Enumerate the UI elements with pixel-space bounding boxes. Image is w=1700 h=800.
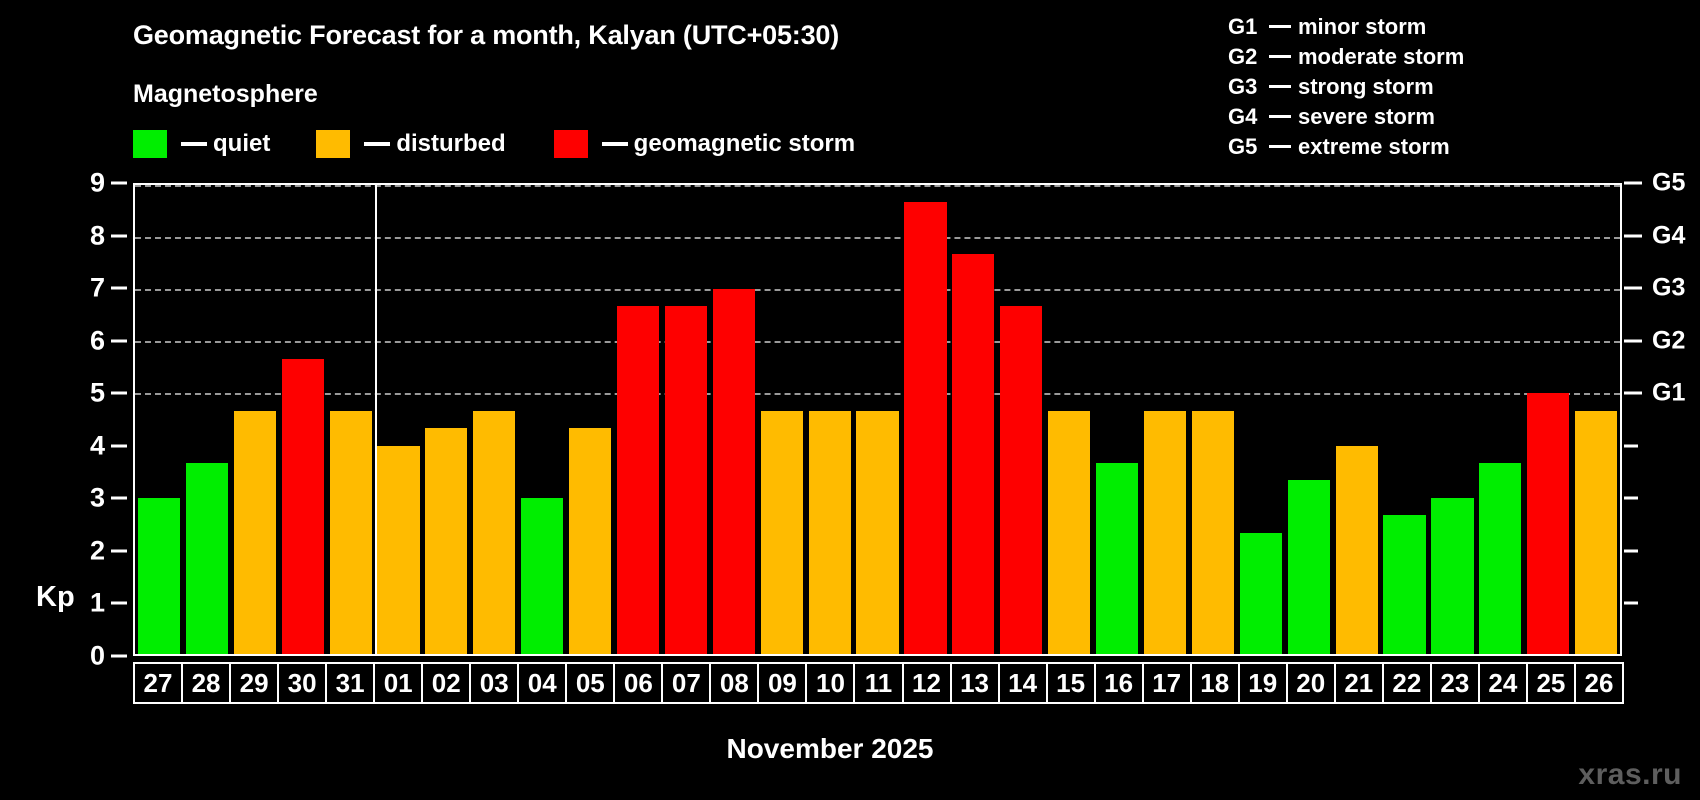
g-tick-label-g4: G4 [1652,221,1685,250]
bar-cell[interactable] [135,185,183,654]
date-label-09[interactable]: 09 [757,662,807,704]
y-tick-label-8: 8 [90,220,105,251]
g-key-dash-icon [1269,55,1291,58]
bar-cell[interactable] [375,185,423,654]
g-key-row-g5: G5extreme storm [1228,132,1464,161]
y-tick-mark-0 [111,655,127,658]
date-label-13[interactable]: 13 [950,662,1000,704]
bar-day-12[interactable] [904,202,946,654]
g-key-code: G3 [1228,72,1262,101]
y-tick-label-2: 2 [90,535,105,566]
g-key-description: moderate storm [1298,42,1464,71]
y-tick-label-3: 3 [90,483,105,514]
g-tick-mark-g4 [1624,234,1642,237]
bar-cell[interactable] [183,185,231,654]
bar-cell[interactable] [1333,185,1381,654]
date-label-28[interactable]: 28 [181,662,231,704]
bar-day-20[interactable] [1288,480,1330,654]
g-key-code: G4 [1228,102,1262,131]
plot-area [133,183,1622,656]
bar-cell[interactable] [231,185,279,654]
date-label-26[interactable]: 26 [1574,662,1624,704]
date-label-21[interactable]: 21 [1334,662,1384,704]
bar-day-28[interactable] [186,463,228,654]
date-label-11[interactable]: 11 [853,662,903,704]
date-label-03[interactable]: 03 [469,662,519,704]
bar-cell[interactable] [1524,185,1572,654]
legend-entry-disturbed: disturbed [316,130,505,158]
bar-cell[interactable] [422,185,470,654]
bar-cell[interactable] [1237,185,1285,654]
y-tick-mark-6 [111,339,127,342]
y-tick-mark-4 [111,444,127,447]
legend-dash-icon [602,142,628,146]
legend-label: disturbed [396,130,505,158]
date-label-24[interactable]: 24 [1478,662,1528,704]
date-label-25[interactable]: 25 [1526,662,1576,704]
bar-cell[interactable] [614,185,662,654]
legend-label: quiet [213,130,270,158]
y-tick-mark-2 [111,549,127,552]
date-label-05[interactable]: 05 [565,662,615,704]
bar-day-29[interactable] [234,411,276,654]
bar-day-17[interactable] [1144,411,1186,654]
g-key-row-g4: G4severe storm [1228,102,1464,131]
date-label-19[interactable]: 19 [1238,662,1288,704]
g-minor-tick-kp-4 [1624,444,1638,447]
bar-day-27[interactable] [138,498,180,654]
y-tick-label-9: 9 [90,168,105,199]
bar-cell[interactable] [949,185,997,654]
bar-cell[interactable] [1285,185,1333,654]
watermark: xras.ru [1578,758,1682,792]
date-label-10[interactable]: 10 [805,662,855,704]
y-tick-mark-9 [111,182,127,185]
y-tick-mark-1 [111,602,127,605]
g-key-row-g2: G2moderate storm [1228,42,1464,71]
g-key-code: G5 [1228,132,1262,161]
g-key-dash-icon [1269,145,1291,148]
bar-cell[interactable] [1189,185,1237,654]
y-tick-mark-7 [111,287,127,290]
bar-cell[interactable] [1572,185,1620,654]
x-axis-title-text: November 2025 [726,733,933,764]
legend-dash-icon [181,142,207,146]
disturbed-swatch [316,130,350,158]
bar-cell[interactable] [854,185,902,654]
plot-inner [135,185,1620,654]
bar-cell[interactable] [1045,185,1093,654]
page-title: Geomagnetic Forecast for a month, Kalyan… [133,20,839,51]
bar-day-14[interactable] [1000,306,1042,654]
y-axis: Kp 0123456789 [0,183,133,656]
y-tick-mark-8 [111,234,127,237]
bar-cell[interactable] [1476,185,1524,654]
bar-cell[interactable] [566,185,614,654]
g-minor-tick-kp-1 [1624,602,1638,605]
bar-day-10[interactable] [809,411,851,654]
date-label-18[interactable]: 18 [1190,662,1240,704]
bar-day-19[interactable] [1240,533,1282,654]
bar-day-02[interactable] [425,428,467,654]
month-divider [375,185,377,654]
date-label-01[interactable]: 01 [373,662,423,704]
y-tick-mark-3 [111,497,127,500]
date-label-06[interactable]: 06 [613,662,663,704]
bar-day-01[interactable] [377,446,419,654]
date-label-07[interactable]: 07 [661,662,711,704]
bar-day-26[interactable] [1575,411,1617,654]
bar-day-31[interactable] [330,411,372,654]
g-key-dash-icon [1269,85,1291,88]
bar-day-06[interactable] [617,306,659,654]
chart-subtitle: Magnetosphere [133,80,318,109]
date-label-30[interactable]: 30 [277,662,327,704]
y-tick-label-0: 0 [90,641,105,672]
g-tick-label-g2: G2 [1652,326,1685,355]
y-tick-label-6: 6 [90,325,105,356]
g-key-code: G2 [1228,42,1262,71]
date-label-20[interactable]: 20 [1286,662,1336,704]
y-tick-label-7: 7 [90,273,105,304]
bar-day-16[interactable] [1096,463,1138,654]
g-minor-tick-kp-2 [1624,549,1638,552]
g-key-dash-icon [1269,25,1291,28]
bar-cell[interactable] [518,185,566,654]
g-key-code: G1 [1228,12,1262,41]
bar-day-03[interactable] [473,411,515,654]
magnetosphere-legend: quietdisturbedgeomagnetic storm [133,130,855,158]
bar-cell[interactable] [279,185,327,654]
g-scale-key: G1minor stormG2moderate stormG3strong st… [1228,12,1464,161]
bar-day-04[interactable] [521,498,563,654]
date-label-15[interactable]: 15 [1046,662,1096,704]
bar-day-24[interactable] [1479,463,1521,654]
date-label-31[interactable]: 31 [325,662,375,704]
y-tick-label-5: 5 [90,378,105,409]
date-label-23[interactable]: 23 [1430,662,1480,704]
g-scale-axis: G1G2G3G4G5 [1622,183,1700,656]
legend-label: geomagnetic storm [634,130,855,158]
bar-day-22[interactable] [1383,515,1425,654]
g-tick-mark-g3 [1624,287,1642,290]
bar-cell[interactable] [758,185,806,654]
g-tick-label-g1: G1 [1652,379,1685,408]
bar-day-05[interactable] [569,428,611,654]
bar-day-11[interactable] [856,411,898,654]
bar-day-30[interactable] [282,359,324,654]
bar-cell[interactable] [327,185,375,654]
bar-day-21[interactable] [1336,446,1378,654]
bar-day-18[interactable] [1192,411,1234,654]
g-key-description: minor storm [1298,12,1426,41]
date-label-04[interactable]: 04 [517,662,567,704]
legend-entry-quiet: quiet [133,130,270,158]
g-tick-mark-g5 [1624,182,1642,185]
date-label-16[interactable]: 16 [1094,662,1144,704]
y-tick-label-4: 4 [90,430,105,461]
bar-day-23[interactable] [1431,498,1473,654]
g-key-dash-icon [1269,115,1291,118]
bar-cell[interactable] [662,185,710,654]
bar-day-09[interactable] [761,411,803,654]
g-key-description: severe storm [1298,102,1435,131]
date-label-row: 2728293031010203040506070809101112131415… [133,662,1622,704]
g-tick-label-g5: G5 [1652,169,1685,198]
bar-cell[interactable] [710,185,758,654]
date-label-29[interactable]: 29 [229,662,279,704]
bar-day-07[interactable] [665,306,707,654]
g-key-description: strong storm [1298,72,1434,101]
bar-cell[interactable] [1381,185,1429,654]
bar-cell[interactable] [806,185,854,654]
g-tick-mark-g2 [1624,339,1642,342]
bar-series [135,185,1620,654]
date-label-02[interactable]: 02 [421,662,471,704]
bar-day-15[interactable] [1048,411,1090,654]
date-label-22[interactable]: 22 [1382,662,1432,704]
date-label-08[interactable]: 08 [709,662,759,704]
bar-cell[interactable] [997,185,1045,654]
g-tick-mark-g1 [1624,392,1642,395]
legend-dash-icon [364,142,390,146]
g-key-description: extreme storm [1298,132,1450,161]
bar-cell[interactable] [902,185,950,654]
quiet-swatch [133,130,167,158]
g-tick-label-g3: G3 [1652,274,1685,303]
geomagnetic-forecast-chart: Geomagnetic Forecast for a month, Kalyan… [0,0,1700,800]
date-label-12[interactable]: 12 [902,662,952,704]
g-key-row-g3: G3strong storm [1228,72,1464,101]
legend-entry-geomagneticstorm: geomagnetic storm [554,130,855,158]
date-label-17[interactable]: 17 [1142,662,1192,704]
storm-swatch [554,130,588,158]
bar-day-25[interactable] [1527,393,1569,654]
y-tick-label-1: 1 [90,588,105,619]
g-key-row-g1: G1minor storm [1228,12,1464,41]
date-label-27[interactable]: 27 [133,662,183,704]
y-tick-mark-5 [111,392,127,395]
bar-day-13[interactable] [952,254,994,654]
bar-day-08[interactable] [713,289,755,654]
date-label-14[interactable]: 14 [998,662,1048,704]
bar-cell[interactable] [1428,185,1476,654]
bar-cell[interactable] [1093,185,1141,654]
bar-cell[interactable] [1141,185,1189,654]
bar-cell[interactable] [470,185,518,654]
g-minor-tick-kp-3 [1624,497,1638,500]
x-axis-title: November 2025 [0,733,1700,765]
y-axis-title: Kp [36,581,75,614]
